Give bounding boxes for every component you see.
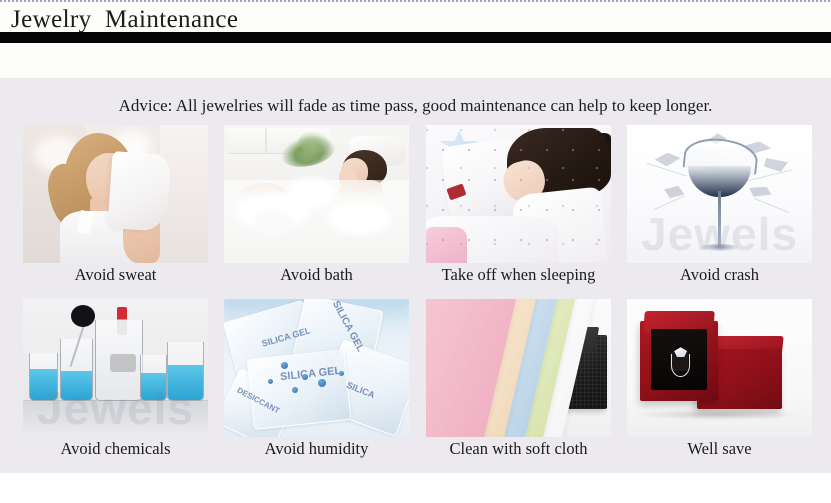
- advice-text: Advice: All jewelries will fade as time …: [0, 95, 831, 117]
- wine-glass-stem: [718, 191, 721, 246]
- page-footer-spacer: [0, 473, 831, 503]
- red-jewelry-boxes-with-ring-image: [627, 299, 812, 437]
- maintenance-card-take-off-when-sleeping[interactable]: Take off when sleeping: [426, 125, 611, 299]
- wine-glass-foot: [701, 244, 738, 251]
- drop-shadow: [634, 409, 797, 420]
- maintenance-card-avoid-sweat[interactable]: Avoid sweat: [23, 125, 208, 299]
- maintenance-card-clean-with-soft-cloth[interactable]: Clean with soft cloth: [426, 299, 611, 473]
- maintenance-card-avoid-bath[interactable]: Avoid bath: [224, 125, 409, 299]
- foam-bubble: [287, 177, 335, 207]
- card-caption: Avoid humidity: [210, 438, 423, 460]
- card-caption: Avoid sweat: [9, 264, 222, 286]
- silica-gel-packet: [246, 349, 351, 430]
- glass-shard: [655, 153, 681, 167]
- jewelry-maintenance-page: Jewelry Maintenance Advice: All jewelrie…: [0, 0, 831, 503]
- table-reflection: [23, 401, 208, 437]
- blue-liquid: [30, 369, 58, 400]
- blue-liquid: [141, 373, 167, 400]
- blue-liquid: [168, 365, 203, 400]
- maintenance-card-avoid-crash[interactable]: Jewels Avoid crash: [627, 125, 812, 299]
- gel-bead: [302, 374, 308, 380]
- card-caption: Avoid bath: [210, 264, 423, 286]
- card-caption: Take off when sleeping: [412, 264, 625, 286]
- glass-crack-line: [654, 196, 685, 210]
- maintenance-card-avoid-chemicals[interactable]: Jewels Avoid chemicals: [23, 299, 208, 473]
- blue-liquid: [61, 371, 92, 400]
- plant-shape: [298, 131, 331, 153]
- maintenance-row: Avoid sweat: [0, 125, 831, 299]
- laboratory-beakers-blue-liquid-image: Jewels: [23, 299, 208, 437]
- test-tube: [117, 307, 126, 335]
- glass-shard: [749, 186, 771, 197]
- glass-shard: [764, 158, 788, 172]
- woman-sleeping-on-pillow-image: [426, 125, 611, 263]
- header-divider-bar: [0, 32, 831, 43]
- beaker-small: [140, 355, 168, 402]
- pipette-bulb: [71, 305, 95, 327]
- colored-soft-cloths-with-black-box-image: [426, 299, 611, 437]
- shattering-wine-glass-image: Jewels: [627, 125, 812, 263]
- card-caption: Avoid crash: [613, 264, 826, 286]
- maintenance-card-well-save[interactable]: Well save: [627, 299, 812, 473]
- gel-bead: [339, 371, 344, 376]
- person-in-bubble-bath-image: [224, 125, 409, 263]
- beaker-small: [29, 353, 59, 401]
- maintenance-grid: Avoid sweat: [0, 125, 831, 473]
- maintenance-card-avoid-humidity[interactable]: SILICA GEL SILICA GEL SILICA GEL SILICA …: [224, 299, 409, 473]
- beaker-label: [110, 354, 136, 372]
- page-header: Jewelry Maintenance: [0, 2, 831, 78]
- window-divider: [265, 128, 267, 153]
- card-caption: Avoid chemicals: [9, 438, 222, 460]
- beaker-medium: [167, 342, 204, 401]
- towel-shape: [107, 151, 171, 232]
- card-caption: Clean with soft cloth: [412, 438, 625, 460]
- content-panel: Advice: All jewelries will fade as time …: [0, 78, 831, 473]
- maintenance-row: Jewels Avoid chemicals SILICA GEL SILICA…: [0, 299, 831, 473]
- card-caption: Well save: [613, 438, 826, 460]
- silica-gel-packets-image: SILICA GEL SILICA GEL SILICA GEL SILICA …: [224, 299, 409, 437]
- page-title: Jewelry Maintenance: [11, 6, 238, 34]
- bedding-pattern-dots: [426, 125, 611, 263]
- woman-wiping-sweat-with-towel-image: [23, 125, 208, 263]
- glass-crack-line: [754, 198, 789, 213]
